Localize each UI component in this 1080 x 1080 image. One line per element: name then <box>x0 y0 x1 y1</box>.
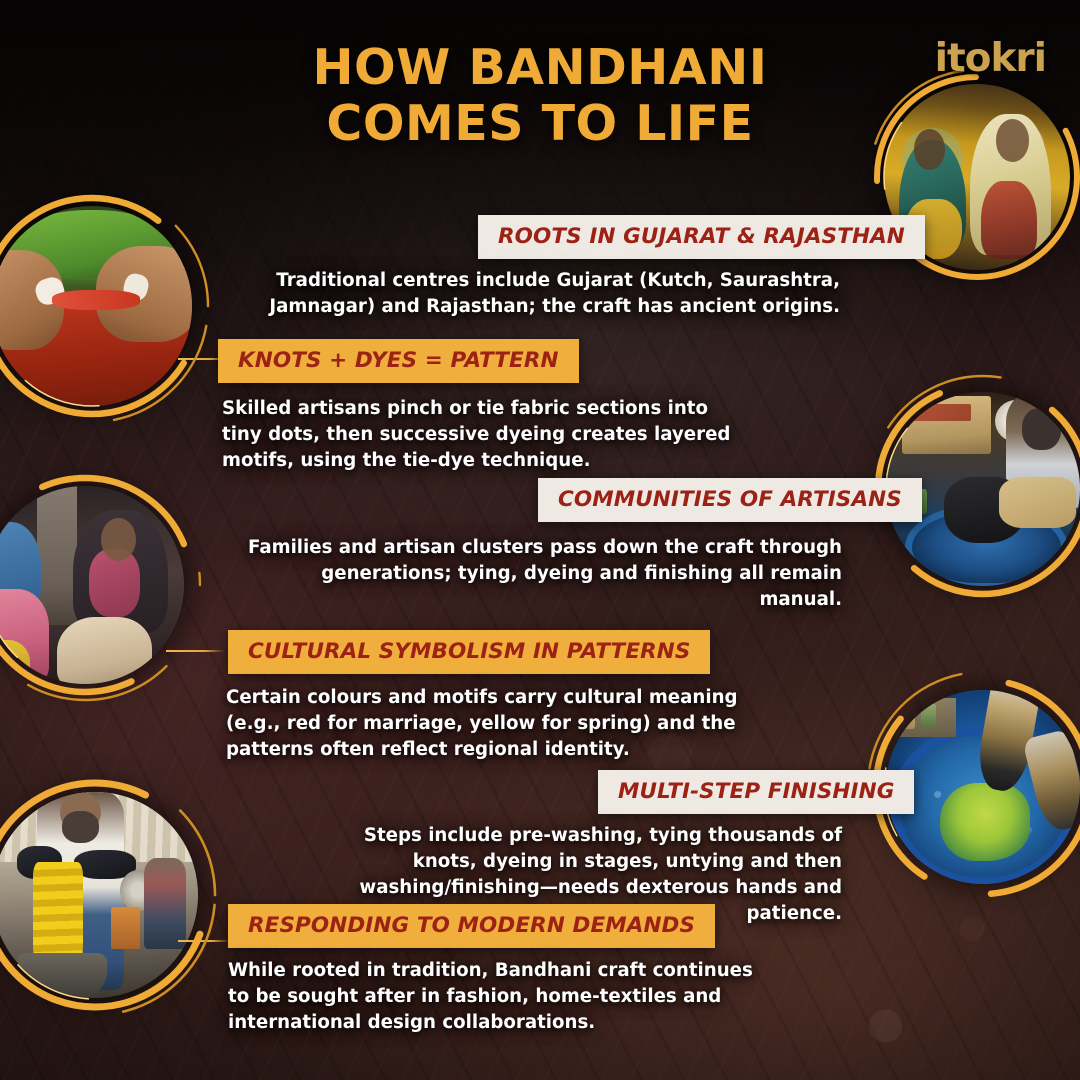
section-body-knots-dyes: Skilled artisans pinch or tie fabric sec… <box>222 396 742 474</box>
photo-indigo-vat <box>886 690 1080 884</box>
photo-women-artisans-seated-image <box>0 486 184 684</box>
section-heading-symbolism[interactable]: CULTURAL SYMBOLISM IN PATTERNS <box>228 630 710 674</box>
section-body-communities: Families and artisan clusters pass down … <box>240 535 842 613</box>
section-body-roots: Traditional centres include Gujarat (Kut… <box>240 268 840 320</box>
photo-hands-red-fabric-image <box>0 206 192 406</box>
section-heading-finishing[interactable]: MULTI-STEP FINISHING <box>598 770 914 814</box>
title-line-1: HOW BANDHANI <box>313 39 768 96</box>
photo-women-artisans-seated <box>0 486 184 684</box>
photo-man-yellow-skeins <box>0 792 198 998</box>
page-title: HOW BANDHANI COMES TO LIFE <box>0 40 1080 152</box>
connector-line-6 <box>178 940 230 942</box>
section-body-modern-demands: While rooted in tradition, Bandhani craf… <box>228 958 780 1036</box>
section-heading-roots[interactable]: ROOTS IN GUJARAT & RAJASTHAN <box>478 215 925 259</box>
photo-indigo-vat-image <box>886 690 1080 884</box>
section-heading-modern-demands[interactable]: RESPONDING TO MODERN DEMANDS <box>228 904 715 948</box>
title-line-2: COMES TO LIFE <box>0 96 1080 152</box>
infographic-poster: itokri HOW BANDHANI COMES TO LIFE <box>0 0 1080 1080</box>
section-heading-communities[interactable]: COMMUNITIES OF ARTISANS <box>538 478 922 522</box>
photo-hands-red-fabric <box>0 206 192 406</box>
itokri-logo[interactable]: itokri <box>935 36 1046 81</box>
section-heading-knots-dyes[interactable]: KNOTS + DYES = PATTERN <box>218 339 579 383</box>
photo-man-yellow-skeins-image <box>0 792 198 998</box>
connector-line-3 <box>166 650 224 652</box>
section-body-symbolism: Certain colours and motifs carry cultura… <box>226 685 766 763</box>
